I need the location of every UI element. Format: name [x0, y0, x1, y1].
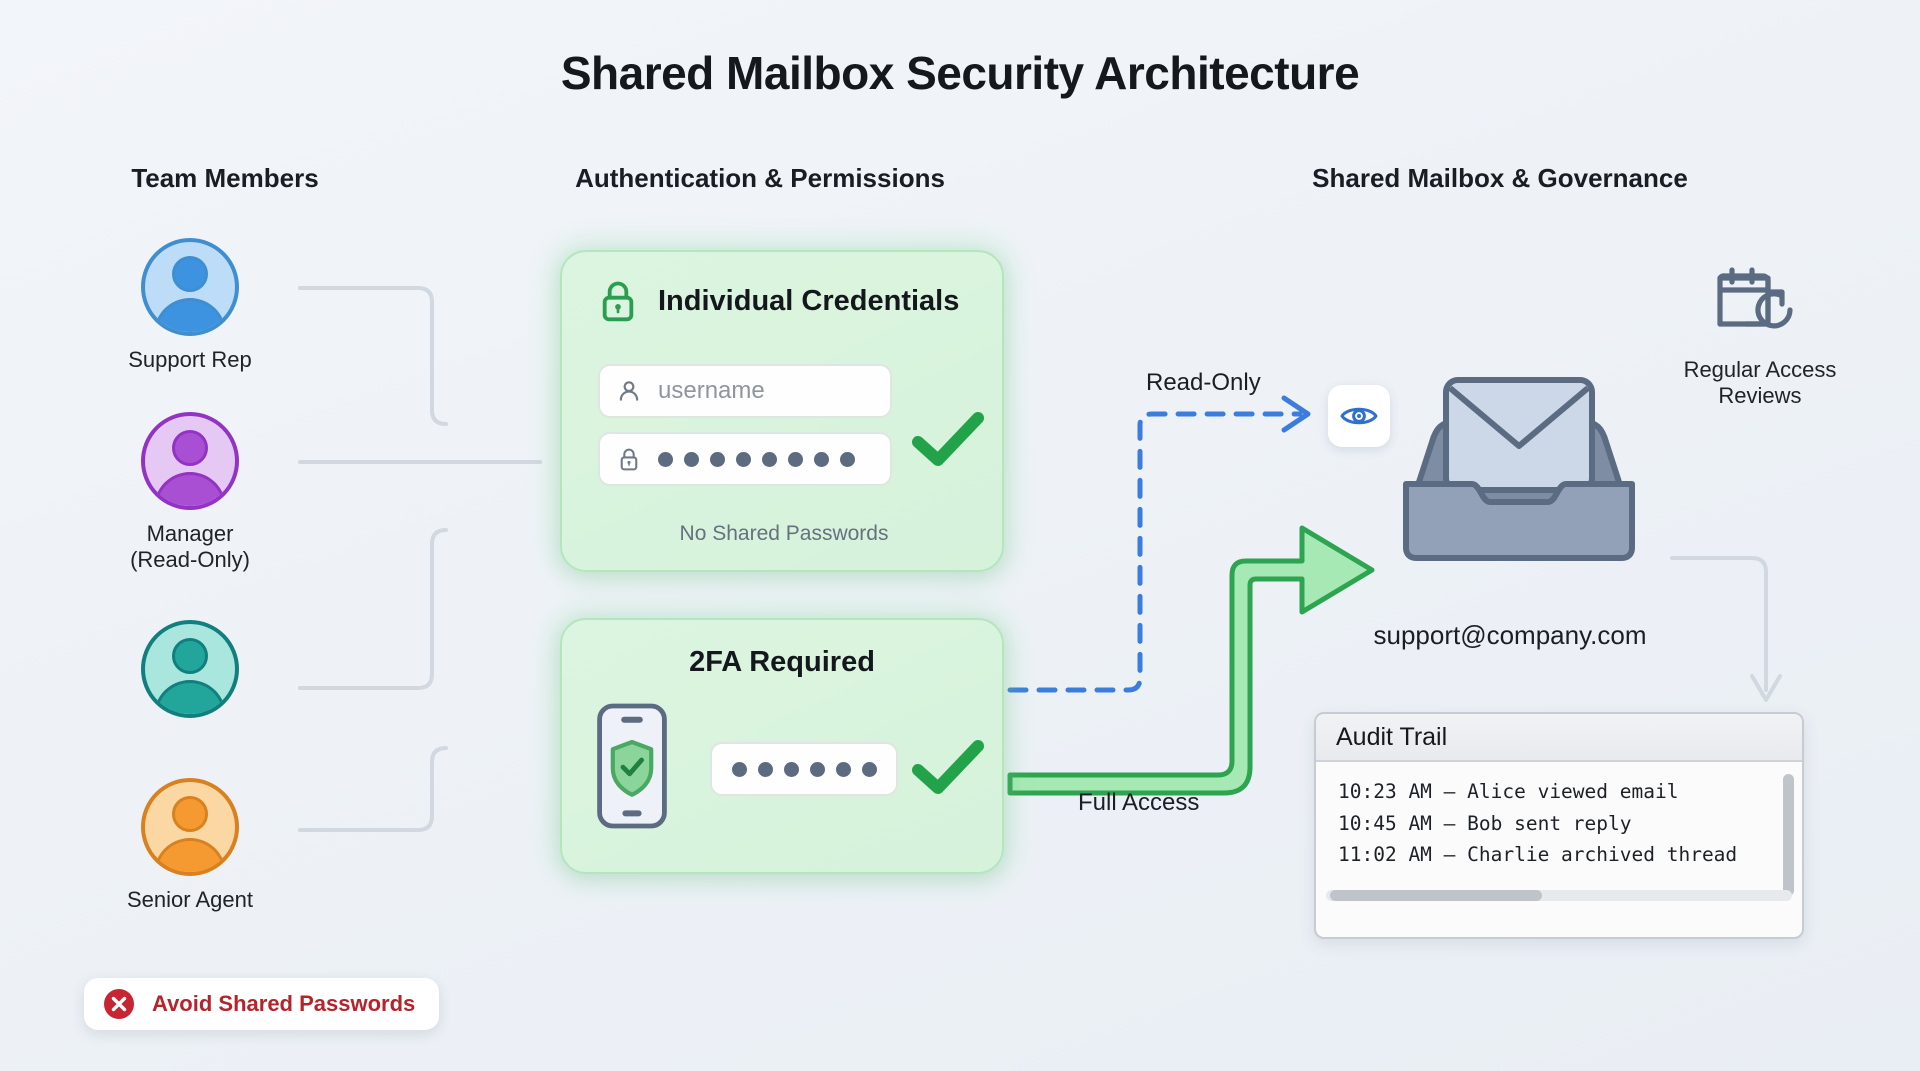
person-senior-agent[interactable]: Senior Agent: [80, 778, 300, 913]
person-label-line1: Manager: [80, 521, 300, 547]
no-shared-passwords-caption: No Shared Passwords: [562, 522, 1006, 546]
calendar-refresh-icon: [1714, 262, 1806, 344]
card-2fa-required[interactable]: 2FA Required: [560, 618, 1004, 874]
scrollbar-horizontal[interactable]: [1330, 890, 1542, 901]
error-circle-icon: [102, 987, 136, 1021]
user-avatar-icon: [141, 412, 239, 510]
audit-trail-header: Audit Trail: [1316, 714, 1802, 762]
card-title: 2FA Required: [689, 646, 875, 678]
person-label: Support Rep: [80, 347, 300, 373]
twofa-code-input[interactable]: [710, 742, 898, 796]
flow-read-only-arrowhead: [1284, 398, 1308, 430]
regular-access-reviews[interactable]: Regular Access Reviews: [1640, 262, 1880, 410]
scrollbar-vertical[interactable]: [1783, 774, 1794, 896]
lock-small-icon: [616, 446, 642, 473]
diagram-canvas: Shared Mailbox Security Architecture Tea…: [0, 0, 1920, 1071]
reviews-label-line2: Reviews: [1640, 383, 1880, 409]
username-placeholder: username: [658, 377, 765, 405]
warning-avoid-shared-passwords[interactable]: Avoid Shared Passwords: [84, 978, 439, 1030]
check-icon: [912, 410, 984, 470]
audit-trail-body: 10:23 AM — Alice viewed email 10:45 AM —…: [1316, 762, 1802, 910]
flow-read-only-path: [1010, 414, 1300, 690]
reviews-label-line1: Regular Access: [1640, 357, 1880, 383]
card-title: Individual Credentials: [658, 285, 959, 318]
flow-label-read-only: Read-Only: [1146, 369, 1261, 397]
column-header-shared-mailbox: Shared Mailbox & Governance: [1180, 163, 1820, 194]
user-avatar-icon: [141, 778, 239, 876]
lock-icon: [598, 278, 638, 324]
shared-mailbox-icon[interactable]: [1376, 372, 1662, 569]
username-input[interactable]: username: [598, 364, 892, 418]
warning-text: Avoid Shared Passwords: [152, 991, 415, 1017]
audit-trail-panel[interactable]: Audit Trail 10:23 AM — Alice viewed emai…: [1314, 712, 1804, 939]
person-support-rep[interactable]: Support Rep: [80, 238, 300, 373]
column-header-team-members: Team Members: [60, 163, 390, 194]
password-input[interactable]: [598, 432, 892, 486]
audit-entry: 10:23 AM — Alice viewed email: [1338, 776, 1802, 808]
column-header-authentication: Authentication & Permissions: [470, 163, 1050, 194]
wire-support-rep: [300, 288, 446, 424]
inbox-envelope-icon: [1376, 372, 1662, 564]
user-avatar-icon: [141, 620, 239, 718]
reviews-label: Regular Access Reviews: [1640, 357, 1880, 410]
person-label-line2: (Read-Only): [80, 547, 300, 573]
person-manager[interactable]: Manager (Read-Only): [80, 412, 300, 573]
person-icon: [616, 378, 642, 404]
wire-senior-agent: [300, 748, 446, 830]
audit-trail-title: Audit Trail: [1336, 723, 1447, 752]
eye-icon: [1339, 402, 1379, 430]
page-title: Shared Mailbox Security Architecture: [0, 46, 1920, 100]
phone-shield-icon: [596, 702, 668, 830]
flow-label-full-access: Full Access: [1078, 789, 1199, 817]
wire-mailbox-to-audit-arrowhead: [1752, 676, 1780, 700]
audit-entry: 11:02 AM — Charlie archived thread: [1338, 839, 1802, 871]
mailbox-address: support@company.com: [1290, 620, 1730, 651]
wire-member-3: [300, 530, 446, 688]
audit-entry: 10:45 AM — Bob sent reply: [1338, 808, 1802, 840]
person-label: Senior Agent: [80, 887, 300, 913]
check-icon: [912, 738, 984, 798]
twofa-code-dots: [732, 762, 877, 777]
person-member-3[interactable]: [80, 620, 300, 718]
user-avatar-icon: [141, 238, 239, 336]
person-label: Manager (Read-Only): [80, 521, 300, 573]
card-individual-credentials[interactable]: Individual Credentials username No Share…: [560, 250, 1004, 572]
password-dots: [658, 452, 855, 467]
